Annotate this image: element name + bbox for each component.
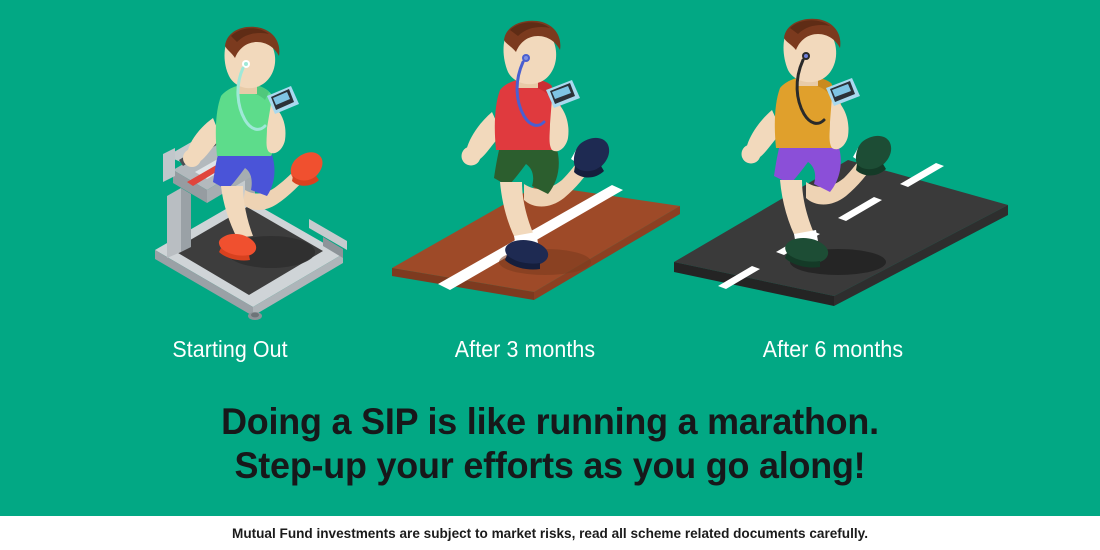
infographic-poster: Starting Out After 3 months After 6 mont… (0, 0, 1100, 550)
scene-row (0, 0, 1100, 330)
caption-starting-out: Starting Out (137, 336, 323, 363)
headline-line-1: Doing a SIP is like running a marathon. (17, 400, 1084, 444)
scene-road (660, 0, 1030, 330)
caption-after-6-months: After 6 months (740, 336, 926, 363)
headline: Doing a SIP is like running a marathon. … (0, 400, 1100, 488)
disclaimer-text: Mutual Fund investments are subject to m… (17, 525, 1084, 541)
caption-after-3-months: After 3 months (432, 336, 618, 363)
headline-line-2: Step-up your efforts as you go along! (17, 444, 1084, 488)
scene-treadmill (95, 0, 385, 330)
scene-track (380, 0, 700, 330)
footer-strip: Mutual Fund investments are subject to m… (0, 516, 1100, 550)
caption-row: Starting Out After 3 months After 6 mont… (0, 336, 1100, 372)
